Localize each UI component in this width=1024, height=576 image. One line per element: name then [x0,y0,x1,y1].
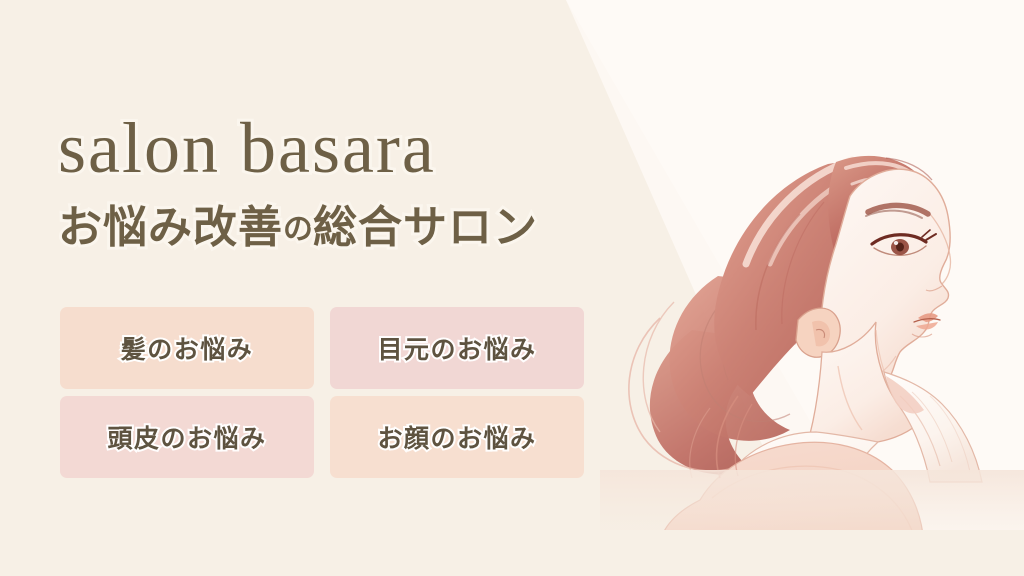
concern-card-hair[interactable]: 髪のお悩み [60,307,314,389]
brand-subtitle: お悩み改善の総合サロン [58,206,538,250]
subtitle-lead: お悩み改善 [58,202,283,253]
concern-card-label: 頭皮のお悩み [107,419,266,455]
concern-card-label: お顔のお悩み [377,419,536,455]
concern-card-label: 目元のお悩み [377,330,536,366]
concern-card-face[interactable]: お顔のお悩み [330,396,584,478]
concern-card-label: 髪のお悩み [121,330,254,366]
salon-hero-banner: salon basara お悩み改善の総合サロン 髪のお悩み 目元のお悩み 頭皮… [0,0,1024,576]
concern-card-eyes[interactable]: 目元のお悩み [330,307,584,389]
hero-text-column: salon basara お悩み改善の総合サロン 髪のお悩み 目元のお悩み 頭皮… [0,0,620,576]
page-title: salon basara [58,112,436,184]
concern-card-scalp[interactable]: 頭皮のお悩み [60,396,314,478]
subtitle-particle: の [283,212,313,247]
concern-card-grid: 髪のお悩み 目元のお悩み 頭皮のお悩み お顔のお悩み [60,307,584,478]
subtitle-tail: 総合サロン [313,202,538,253]
